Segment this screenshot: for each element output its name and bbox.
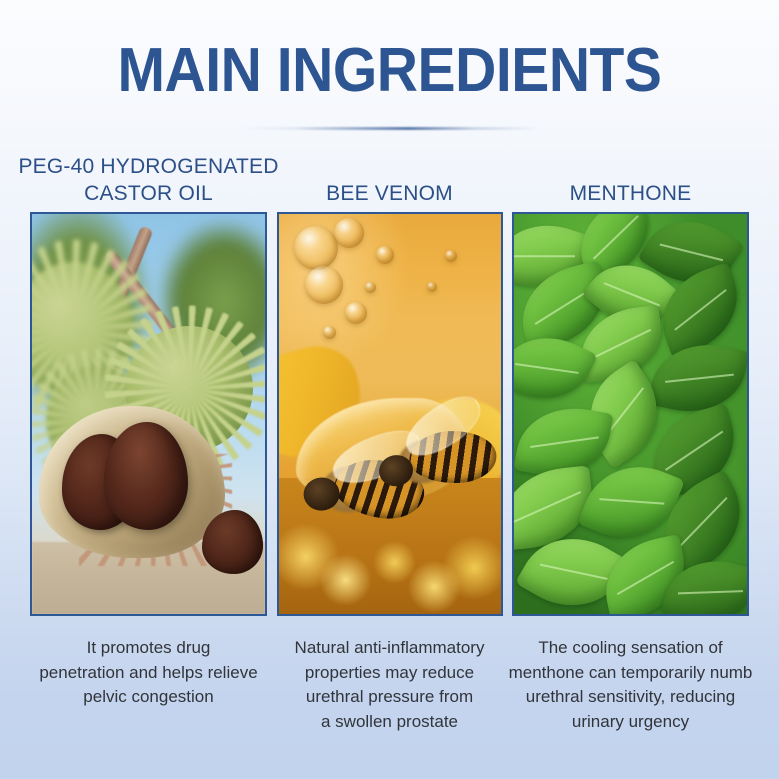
ingredient-card-bee-venom: BEE VENOM — [277, 152, 503, 779]
ingredient-name-line2: CASTOR OIL — [84, 182, 213, 205]
caption-line: penetration and helps relieve — [39, 663, 257, 682]
caption-line: a swollen prostate — [321, 712, 458, 731]
honey-droplet — [323, 326, 336, 339]
ingredient-caption-menthone: The cooling sensation of menthone can te… — [507, 636, 753, 735]
ingredient-caption-bee-venom: Natural anti-inflammatory properties may… — [272, 636, 507, 735]
ingredient-caption-castor-oil: It promotes drug penetration and helps r… — [25, 636, 271, 710]
ingredient-photo-menthone — [512, 212, 749, 616]
ingredient-columns: PEG-40 HYDROGENATED CASTOR OIL — [0, 152, 779, 779]
page-title: MAIN INGREDIENTS — [31, 38, 748, 103]
caption-line: pelvic congestion — [83, 687, 213, 706]
caption-line: urethral sensitivity, reducing — [526, 687, 735, 706]
honey-droplet — [345, 302, 367, 324]
caption-line: menthone can temporarily numb — [509, 663, 753, 682]
ingredient-name-line1: MENTHONE — [570, 181, 692, 208]
ingredient-card-castor-oil: PEG-40 HYDROGENATED CASTOR OIL — [30, 152, 267, 779]
ingredient-card-menthone: MENTHONE — [512, 152, 749, 779]
ingredient-name-castor-oil: PEG-40 HYDROGENATED CASTOR OIL — [18, 152, 278, 212]
caption-line: The cooling sensation of — [538, 638, 722, 657]
ingredient-name-menthone: MENTHONE — [570, 152, 692, 212]
honey-droplet — [445, 250, 457, 262]
honey-droplet — [305, 266, 343, 304]
ingredient-name-line1: BEE VENOM — [326, 181, 453, 208]
ingredient-name-line1: PEG-40 HYDROGENATED — [18, 155, 278, 178]
honey-droplet — [294, 226, 338, 270]
ingredients-infographic: MAIN INGREDIENTS PEG-40 HYDROGENATED CAS… — [0, 0, 779, 779]
castor-seed-small — [202, 510, 263, 574]
ingredient-photo-castor-oil — [30, 212, 267, 616]
caption-line: urinary urgency — [572, 712, 689, 731]
ingredient-photo-bee-venom — [277, 212, 503, 616]
caption-line: urethral pressure from — [306, 687, 473, 706]
honey-droplet — [365, 282, 376, 293]
honey-droplet — [334, 218, 364, 248]
ingredient-name-bee-venom: BEE VENOM — [326, 152, 453, 212]
caption-line: It promotes drug — [87, 638, 211, 657]
caption-line: Natural anti-inflammatory — [295, 638, 485, 657]
title-divider — [240, 127, 540, 130]
caption-line: properties may reduce — [305, 663, 474, 682]
